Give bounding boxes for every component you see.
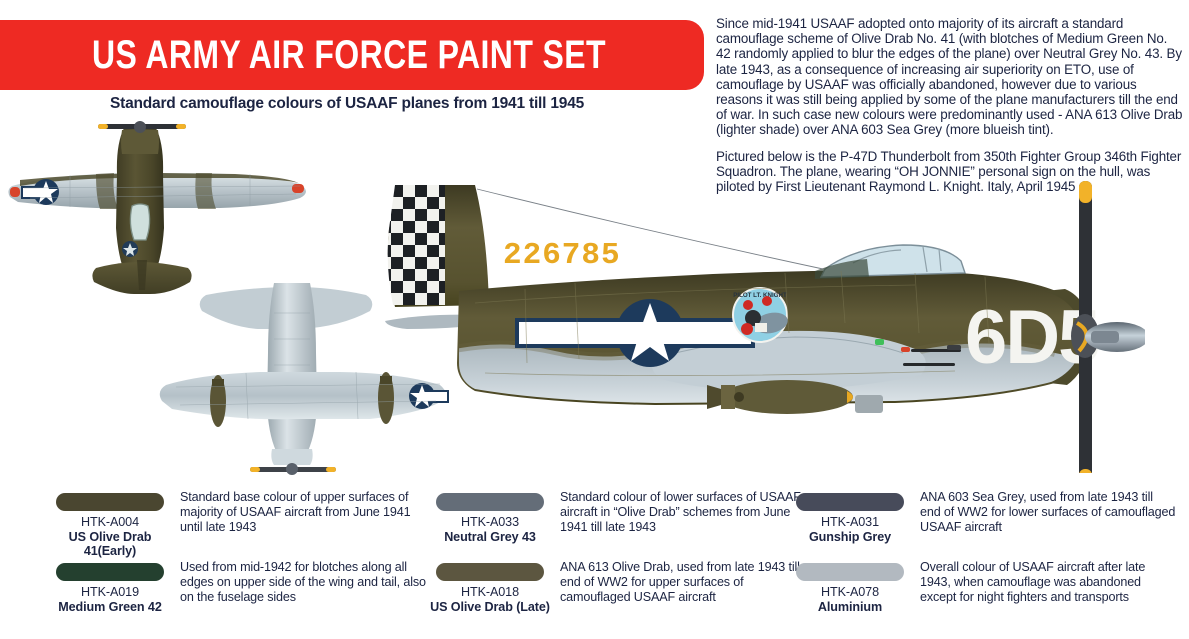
swatch-code: HTK-A019 [46,585,174,600]
swatch-chip-wrap: HTK-A019 Medium Green 42 [46,556,174,632]
swatch-description: ANA 613 Olive Drab, used from late 1943 … [554,556,816,632]
top-view-wingtip-left [10,187,20,197]
swatch-description: ANA 603 Sea Grey, used from late 1943 ti… [914,486,1176,562]
side-view-bomb [707,380,853,414]
swatch-code: HTK-A018 [426,585,554,600]
nose-art-text: PILOT LT. KNIGHT [733,292,787,299]
swatch-row[interactable]: HTK-A004 US Olive Drab 41(Early) Standar… [46,486,436,562]
swatch-name: Aluminium [786,600,914,615]
subtitle: Standard camouflage colours of USAAF pla… [110,95,584,113]
side-view-canopy [815,245,965,279]
side-view-propeller [1071,181,1145,473]
swatch-row[interactable]: HTK-A031 Gunship Grey ANA 603 Sea Grey, … [786,486,1176,562]
color-chip [56,563,164,581]
swatch-code: HTK-A004 [46,515,174,530]
side-view-exhaust [855,395,883,413]
swatch-description: Overall colour of USAAF aircraft after l… [914,556,1176,632]
swatch-chip-wrap: HTK-A033 Neutral Grey 43 [426,486,554,562]
aircraft-illustrations: 226785 PILOT LT. KNIGHT 6D5 [0,118,1189,488]
swatch-column-2: HTK-A033 Neutral Grey 43 Standard colour… [426,486,816,639]
swatch-name: US Olive Drab (Late) [426,600,554,615]
swatch-code: HTK-A078 [786,585,914,600]
side-view-nav-light [875,339,884,345]
swatch-name: Neutral Grey 43 [426,530,554,545]
title-banner: US ARMY AIR FORCE PAINT SET [0,20,704,90]
top-view-wingtip-right [292,184,304,193]
swatch-description: Standard colour of lower surfaces of USA… [554,486,816,562]
swatch-row[interactable]: HTK-A019 Medium Green 42 Used from mid-1… [46,556,436,632]
swatch-chip-wrap: HTK-A004 US Olive Drab 41(Early) [46,486,174,562]
color-chip [436,563,544,581]
swatch-name: US Olive Drab 41(Early) [46,530,174,559]
swatch-chip-wrap: HTK-A078 Aluminium [786,556,914,632]
swatch-name: Gunship Grey [786,530,914,545]
swatch-code: HTK-A033 [426,515,554,530]
swatch-row[interactable]: HTK-A033 Neutral Grey 43 Standard colour… [426,486,816,562]
swatch-description: Used from mid-1942 for blotches along al… [174,556,436,632]
swatch-chip-wrap: HTK-A018 US Olive Drab (Late) [426,556,554,632]
swatch-row[interactable]: HTK-A018 US Olive Drab (Late) ANA 613 Ol… [426,556,816,632]
bottom-view-cowling [271,449,312,465]
swatch-chip-wrap: HTK-A031 Gunship Grey [786,486,914,562]
swatch-name: Medium Green 42 [46,600,174,615]
paint-swatch-legend: HTK-A004 US Olive Drab 41(Early) Standar… [0,486,1189,639]
color-chip [436,493,544,511]
swatch-column-3: HTK-A031 Gunship Grey ANA 603 Sea Grey, … [786,486,1176,639]
top-view-canopy [130,204,149,240]
side-view-nav-light-red [901,347,910,352]
tail-checkerboard [383,181,445,311]
swatch-description: Standard base colour of upper surfaces o… [174,486,436,562]
color-chip [796,493,904,511]
color-chip [796,563,904,581]
bottom-view-ordnance-left [210,375,226,427]
page-title: US ARMY AIR FORCE PAINT SET [74,35,606,75]
color-chip [56,493,164,511]
top-view-propeller [98,121,186,133]
poster-root: US ARMY AIR FORCE PAINT SET Standard cam… [0,0,1189,639]
top-view-cowling [121,130,159,154]
tail-number: 226785 [503,238,621,273]
side-profile-view-p47d: 226785 PILOT LT. KNIGHT 6D5 [355,173,1145,473]
swatch-column-1: HTK-A004 US Olive Drab 41(Early) Standar… [46,486,436,639]
bottom-view-propeller [250,463,336,475]
swatch-row[interactable]: HTK-A078 Aluminium Overall colour of USA… [786,556,1176,632]
swatch-code: HTK-A031 [786,515,914,530]
